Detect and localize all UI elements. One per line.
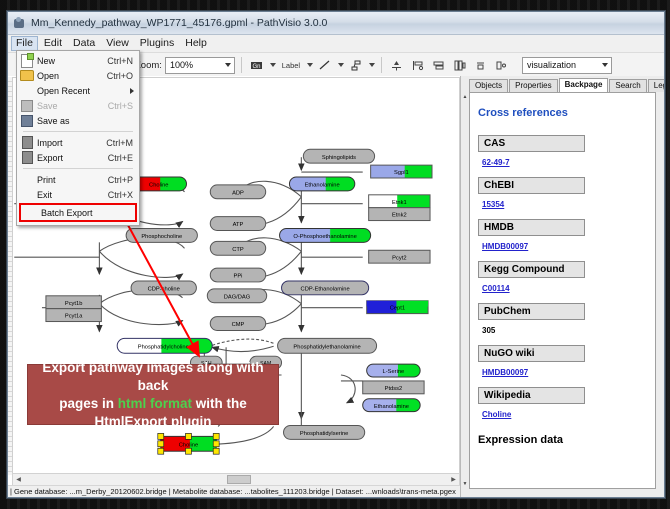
backpage-content: Cross references CAS 62-49-7 ChEBI 15354… [469, 92, 656, 489]
callout-line-2: pages in html format with the [59, 395, 247, 413]
tab-objects[interactable]: Objects [469, 79, 508, 92]
selection-handle[interactable] [186, 433, 192, 439]
node-label: Choline [179, 442, 198, 448]
metabolite-node[interactable]: Phosphatidylserine [284, 425, 365, 439]
menu-item-accelerator: Ctrl+P [108, 175, 139, 185]
reference-source-label: ChEBI [478, 177, 585, 194]
node-label: Ethanolamine [305, 183, 340, 189]
menu-file[interactable]: File [11, 36, 38, 51]
node-label: O-Phosphoethanolamine [293, 234, 356, 240]
callout-highlight: html format [118, 396, 192, 411]
reference-source-label: Kegg Compound [478, 261, 585, 278]
pathvisio-icon [13, 17, 26, 30]
reference-source-label: CAS [478, 135, 585, 152]
menu-separator-1 [23, 131, 133, 132]
menu-item-save-as[interactable]: Save as [17, 113, 139, 128]
scroll-right-icon[interactable]: ▶ [448, 475, 459, 484]
node-label: CDP-choline [148, 286, 180, 292]
import-icon [17, 135, 37, 150]
blank-icon-3 [17, 187, 37, 202]
menu-item-exit[interactable]: Exit Ctrl+X [17, 187, 139, 202]
node-label: Sgpl1 [394, 170, 409, 176]
reference-link[interactable]: Choline [482, 410, 511, 419]
menu-item-label: Save as [37, 116, 133, 126]
menu-item-accelerator: Ctrl+S [108, 101, 139, 111]
file-menu-dropdown[interactable]: New Ctrl+N Open Ctrl+O Open Recent Save … [16, 50, 140, 226]
status-bar: | Gene database: ...m_Derby_20120602.bri… [8, 485, 460, 497]
node-label: Cept1 [390, 306, 405, 312]
reference-source-label: NuGO wiki [478, 345, 585, 362]
node-label: CTP [232, 247, 244, 253]
menu-item-label: New [37, 56, 107, 66]
blank-icon-2 [17, 172, 37, 187]
node-label: Phosphocholine [141, 234, 182, 240]
menu-item-label: Exit [37, 190, 108, 200]
scroll-down-icon[interactable]: ▼ [462, 481, 468, 487]
datanode-gene-button[interactable]: Gn [248, 56, 266, 74]
selection-handle[interactable] [158, 441, 164, 447]
window-title: Mm_Kennedy_pathway_WP1771_45176.gpml - P… [31, 17, 327, 29]
metabolite-node[interactable]: PPi [210, 268, 265, 282]
node-label: DAG/DAG [224, 294, 251, 300]
zoom-value: 100% [170, 60, 193, 70]
side-panel-mini-scrollbar[interactable]: ▲ ▼ [462, 94, 468, 487]
menu-item-accelerator: Ctrl+N [107, 56, 139, 66]
menu-item-label: Export [37, 153, 108, 163]
reference-link[interactable]: 62-49-7 [482, 158, 510, 167]
metabolite-node[interactable]: Phosphatidylcholines [117, 338, 212, 353]
metabolite-node[interactable]: Ethanolamine [289, 177, 354, 191]
menu-item-label: Batch Export [41, 208, 135, 218]
node-label: CDP-Ethanolamine [301, 286, 350, 292]
label-button[interactable]: Label [279, 56, 303, 74]
metabolite-node[interactable]: CTP [210, 241, 265, 255]
side-panel: Objects Properties Backpage Search Legen… [461, 76, 664, 497]
selection-handle[interactable] [158, 448, 164, 454]
selection-handle[interactable] [213, 433, 219, 439]
node-label: Pcyt1b [65, 301, 83, 307]
blank-icon-4 [21, 205, 41, 220]
line-dropdown-icon[interactable] [338, 63, 344, 67]
menu-item-label: Open [37, 71, 107, 81]
reference-source-label: Wikipedia [478, 387, 585, 404]
gene-node[interactable]: Sgpl1 [371, 165, 432, 178]
align-top-button[interactable] [388, 56, 406, 74]
metabolite-node[interactable]: Choline [158, 433, 219, 454]
visualization-combo[interactable]: visualization [522, 57, 612, 74]
menu-plugins[interactable]: Plugins [135, 36, 179, 51]
metabolite-node[interactable]: ATP [210, 217, 265, 231]
new-document-icon [17, 53, 37, 68]
menu-view[interactable]: View [101, 36, 134, 51]
reference-block-chebi: ChEBI 15354 [478, 177, 647, 212]
tab-legend[interactable]: Legend [648, 79, 664, 92]
zoom-combo[interactable]: 100% [165, 57, 235, 74]
menu-item-import[interactable]: Import Ctrl+M [17, 135, 139, 150]
interaction-dropdown-icon[interactable] [369, 63, 375, 67]
node-label: Pcyt1a [65, 314, 83, 320]
menu-item-label: Import [37, 138, 106, 148]
datanode-dropdown-icon[interactable] [270, 63, 276, 67]
metabolite-node[interactable]: CMP [210, 317, 265, 331]
metabolite-node[interactable]: Phosphocholine [126, 228, 197, 242]
scrollbar-thumb[interactable] [227, 475, 251, 484]
status-bar-text: | Gene database: ...m_Derby_20120602.bri… [10, 487, 456, 496]
menu-item-save: Save Ctrl+S [17, 98, 139, 113]
node-label: Phosphatidylcholines [138, 344, 192, 350]
node-label: CMP [232, 322, 245, 328]
gene-node[interactable]: Ptdss2 [363, 381, 424, 394]
selection-handle[interactable] [186, 448, 192, 454]
menu-edit[interactable]: Edit [39, 36, 67, 51]
align-left-button[interactable] [409, 56, 427, 74]
expression-data-heading: Expression data [478, 434, 647, 446]
submenu-arrow-icon [130, 88, 134, 94]
tab-search[interactable]: Search [609, 79, 646, 92]
callout-line-2b: with the [192, 396, 247, 411]
metabolite-node[interactable]: Sphingolipids [303, 149, 374, 163]
scroll-up-icon[interactable]: ▲ [462, 94, 468, 100]
selection-handle[interactable] [158, 433, 164, 439]
menu-item-label: Open Recent [37, 86, 139, 96]
reference-link[interactable]: HMDB00097 [482, 368, 528, 377]
chevron-down-icon [225, 63, 231, 67]
gene-node[interactable]: Pcyt1b [46, 296, 101, 309]
reference-block-cas: CAS 62-49-7 [478, 135, 647, 170]
reference-block-kegg: Kegg Compound C00114 [478, 261, 647, 296]
callout-line-3: HtmlExport plugin [95, 413, 212, 431]
gene-node[interactable]: Etnk2 [369, 208, 430, 221]
callout-line-1: Export pathway images along with back [28, 359, 278, 395]
reference-block-nugo: NuGO wiki HMDB00097 [478, 345, 647, 380]
reference-link[interactable]: C00114 [482, 284, 510, 293]
annotation-callout: Export pathway images along with back pa… [27, 364, 279, 425]
interaction-button[interactable] [347, 56, 365, 74]
menu-item-accelerator: Ctrl+X [108, 190, 139, 200]
menu-item-label: Print [37, 175, 108, 185]
metabolite-node[interactable]: ADP [210, 185, 265, 199]
node-label: Sphingolipids [322, 155, 356, 161]
open-folder-icon [17, 68, 37, 83]
visualization-value: visualization [527, 60, 576, 70]
chevron-down-icon-2 [602, 63, 608, 67]
gene-node[interactable]: Cept1 [367, 301, 428, 314]
metabolite-node[interactable]: DAG/DAG [207, 289, 266, 303]
screenshot-frame: Mm_Kennedy_pathway_WP1771_45176.gpml - P… [0, 0, 670, 509]
menu-item-accelerator: Ctrl+E [108, 153, 139, 163]
menu-item-open-recent[interactable]: Open Recent [17, 83, 139, 98]
menu-help[interactable]: Help [180, 36, 212, 51]
window-titlebar: Mm_Kennedy_pathway_WP1771_45176.gpml - P… [8, 12, 664, 35]
menu-item-print[interactable]: Print Ctrl+P [17, 172, 139, 187]
node-label: ADP [232, 190, 244, 196]
node-label: Pcyt2 [392, 255, 406, 261]
save-as-icon [17, 113, 37, 128]
distribute-vertical-button[interactable] [451, 56, 469, 74]
reference-block-wikipedia: Wikipedia Choline [478, 387, 647, 422]
metabolite-node[interactable]: Phosphatidylethanolamine [278, 338, 377, 353]
node-label: Ptdss2 [385, 386, 403, 392]
toolbar-separator-2 [381, 57, 382, 73]
reference-block-pubchem: PubChem 305 [478, 303, 647, 338]
node-label: Phosphatidylserine [300, 431, 348, 437]
menu-item-open[interactable]: Open Ctrl+O [17, 68, 139, 83]
line-button[interactable] [316, 56, 334, 74]
callout-line-2a: pages in [59, 396, 118, 411]
reference-source-label: HMDB [478, 219, 585, 236]
distribute-horizontal-button[interactable] [430, 56, 448, 74]
menu-separator-2 [23, 168, 133, 169]
reference-link[interactable]: HMDB00097 [482, 242, 528, 251]
node-label: Phosphatidylethanolamine [293, 344, 360, 350]
metabolite-node[interactable]: L-Serine [367, 364, 420, 377]
menu-data[interactable]: Data [68, 36, 100, 51]
metabolite-node[interactable]: CDP-Ethanolamine [282, 281, 369, 295]
metabolite-node[interactable]: CDP-choline [131, 281, 196, 295]
label-button-text: Label [282, 61, 300, 70]
blank-icon [17, 83, 37, 98]
node-label: L-Serine [383, 369, 405, 375]
node-label: Etnk2 [392, 213, 407, 219]
tab-properties[interactable]: Properties [509, 79, 557, 92]
menu-item-accelerator: Ctrl+M [106, 138, 139, 148]
label-dropdown-icon[interactable] [307, 63, 313, 67]
menu-item-batch-export[interactable]: Batch Export [19, 203, 137, 222]
metabolite-node[interactable]: O-Phosphoethanolamine [280, 228, 371, 242]
export-icon [17, 150, 37, 165]
node-label: ATP [233, 222, 244, 228]
group-button[interactable] [493, 56, 511, 74]
reference-block-hmdb: HMDB HMDB00097 [478, 219, 647, 254]
scroll-left-icon[interactable]: ◀ [13, 475, 24, 484]
selection-handle[interactable] [213, 441, 219, 447]
toolbar-separator [241, 57, 242, 73]
menu-item-accelerator: Ctrl+O [107, 71, 139, 81]
tab-backpage[interactable]: Backpage [559, 78, 609, 92]
save-disk-icon [17, 98, 37, 113]
gene-node[interactable]: Pcyt2 [369, 250, 430, 263]
menu-item-export[interactable]: Export Ctrl+E [17, 150, 139, 165]
pathvisio-window: Mm_Kennedy_pathway_WP1771_45176.gpml - P… [7, 11, 665, 498]
node-label: Ethanolamine [374, 404, 409, 410]
gene-node[interactable]: Etnk1 [369, 195, 430, 208]
node-label: PPi [234, 274, 243, 280]
metabolite-node[interactable]: Ethanolamine [363, 399, 420, 412]
cross-references-heading: Cross references [478, 107, 647, 119]
reference-link[interactable]: 15354 [482, 200, 504, 209]
node-label: Etnk1 [392, 200, 407, 206]
side-panel-tabs: Objects Properties Backpage Search Legen… [461, 78, 664, 92]
menu-item-label: Save [37, 101, 108, 111]
stack-button[interactable] [472, 56, 490, 74]
reference-source-label: PubChem [478, 303, 585, 320]
selection-handle[interactable] [213, 448, 219, 454]
menu-item-new[interactable]: New Ctrl+N [17, 53, 139, 68]
node-label: Choline [149, 183, 168, 189]
gene-node[interactable]: Pcyt1a [46, 309, 101, 322]
svg-text:Gn: Gn [253, 64, 261, 70]
reference-value: 305 [482, 326, 495, 335]
